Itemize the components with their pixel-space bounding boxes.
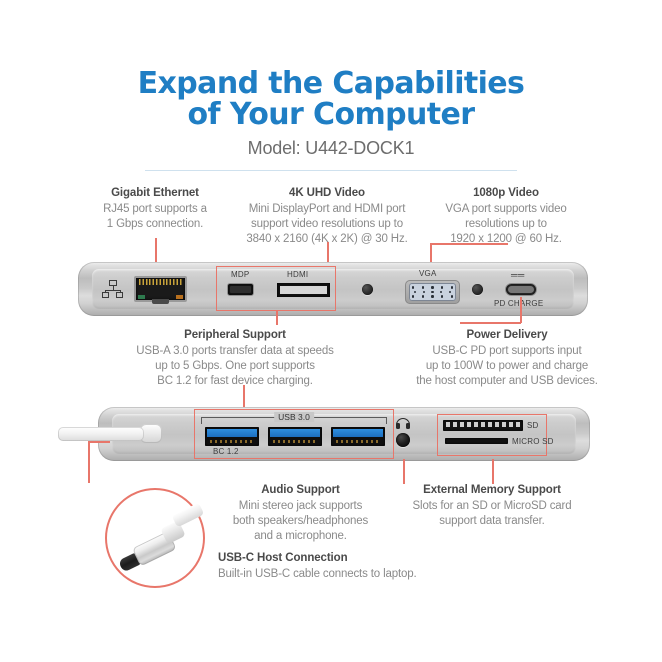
usbc-pd-inner <box>508 286 534 293</box>
label-usb3: USB 3.0 <box>274 412 314 422</box>
callout-body: USB-A 3.0 ports transfer data at speeds … <box>100 344 370 389</box>
leader-line-usb-ports <box>243 385 245 408</box>
label-hdmi: HDMI <box>287 270 308 279</box>
hdmi-port <box>277 283 330 297</box>
mini-displayport <box>227 283 254 296</box>
usb-a-port-2 <box>268 427 322 446</box>
callout-peripheral-support: Peripheral Support USB-A 3.0 ports trans… <box>100 328 370 389</box>
headphone-earcup-right <box>406 423 410 429</box>
vga-port <box>405 280 460 304</box>
callout-heading: 1080p Video <box>406 186 606 201</box>
callout-body: VGA port supports video resolutions up t… <box>406 202 606 247</box>
leader-line-pd-h <box>460 322 521 324</box>
header-divider <box>145 170 517 171</box>
callout-body: USB-C PD port supports input up to 100W … <box>362 344 652 389</box>
usbc-pd-port <box>505 283 537 296</box>
leader-line-vga-h <box>430 243 508 245</box>
usbc-cable <box>58 427 144 441</box>
callout-heading: External Memory Support <box>392 483 592 498</box>
rj45-pins <box>139 279 182 285</box>
rj45-led-green <box>138 295 145 299</box>
leader-line-cable <box>88 441 90 483</box>
callout-heading: Audio Support <box>208 483 393 498</box>
sd-card-slot <box>443 420 523 431</box>
sd-slot-pins <box>446 422 520 427</box>
hdmi-inner <box>280 286 327 295</box>
audio-jack-port <box>396 433 410 447</box>
vga-inner <box>409 283 456 301</box>
micro-sd-card-slot <box>445 438 508 444</box>
usb-a-1-contacts <box>210 440 254 443</box>
vga-pin-row <box>412 295 453 297</box>
callout-external-memory: External Memory Support Slots for an SD … <box>392 483 592 529</box>
network-icon <box>102 280 124 298</box>
usb-a-port-3 <box>331 427 385 446</box>
leader-line-cable-h <box>88 441 110 443</box>
usb-a-port-1 <box>205 427 259 446</box>
usb-a-3-blue-insert <box>333 429 383 437</box>
callout-heading: USB-C Host Connection <box>218 551 518 566</box>
usb-a-2-blue-insert <box>270 429 320 437</box>
vga-screw-hole-right <box>472 284 483 295</box>
leader-line-audio <box>403 459 405 484</box>
usb-a-1-blue-insert <box>207 429 257 437</box>
page-title: Expand the Capabilities of Your Computer <box>0 68 662 130</box>
callout-heading: Power Delivery <box>362 328 652 343</box>
vga-pin-row <box>414 291 451 293</box>
leader-line-memory <box>492 459 494 484</box>
leader-line-video <box>327 242 329 264</box>
model-subtitle: Model: U442-DOCK1 <box>0 138 662 159</box>
callout-power-delivery: Power Delivery USB-C PD port supports in… <box>362 328 652 389</box>
rj45-led-amber <box>176 295 183 299</box>
rj45-notch <box>152 299 170 304</box>
callout-1080p-video: 1080p Video VGA port supports video reso… <box>406 186 606 247</box>
callout-body: Built-in USB-C cable connects to laptop. <box>218 567 518 582</box>
headphone-earcup-left <box>396 423 400 429</box>
label-micro-sd: MICRO SD <box>512 437 554 446</box>
usb-a-2-contacts <box>273 440 317 443</box>
label-pd-charge: PD CHARGE <box>494 299 543 308</box>
callout-usbc-host-connection: USB-C Host Connection Built-in USB-C cab… <box>218 551 518 582</box>
usb-a-3-contacts <box>336 440 380 443</box>
ethernet-port-rj45 <box>134 276 187 302</box>
leader-line-peripheral <box>276 311 278 325</box>
title-line-1: Expand the Capabilities <box>138 66 525 101</box>
mdp-inner <box>230 286 251 293</box>
label-sd: SD <box>527 421 539 430</box>
vga-pin-row <box>412 286 453 288</box>
vga-screw-hole-left <box>362 284 373 295</box>
dc-power-symbol: ══ <box>511 270 525 280</box>
callout-body: Slots for an SD or MicroSD card support … <box>392 499 592 529</box>
label-mdp: MDP <box>231 270 249 279</box>
label-vga: VGA <box>419 269 437 278</box>
usbc-connector-cable <box>172 503 205 528</box>
title-line-2: of Your Computer <box>0 99 662 130</box>
headphone-icon <box>396 418 410 430</box>
usb3-bracket: USB 3.0 <box>201 417 387 424</box>
infographic-page: Expand the Capabilities of Your Computer… <box>0 0 662 662</box>
callout-heading: Peripheral Support <box>100 328 370 343</box>
leader-line-pd <box>520 297 522 323</box>
label-bc12: BC 1.2 <box>213 447 239 456</box>
callout-body: Mini stereo jack supports both speakers/… <box>208 499 393 544</box>
callout-audio-support: Audio Support Mini stereo jack supports … <box>208 483 393 544</box>
